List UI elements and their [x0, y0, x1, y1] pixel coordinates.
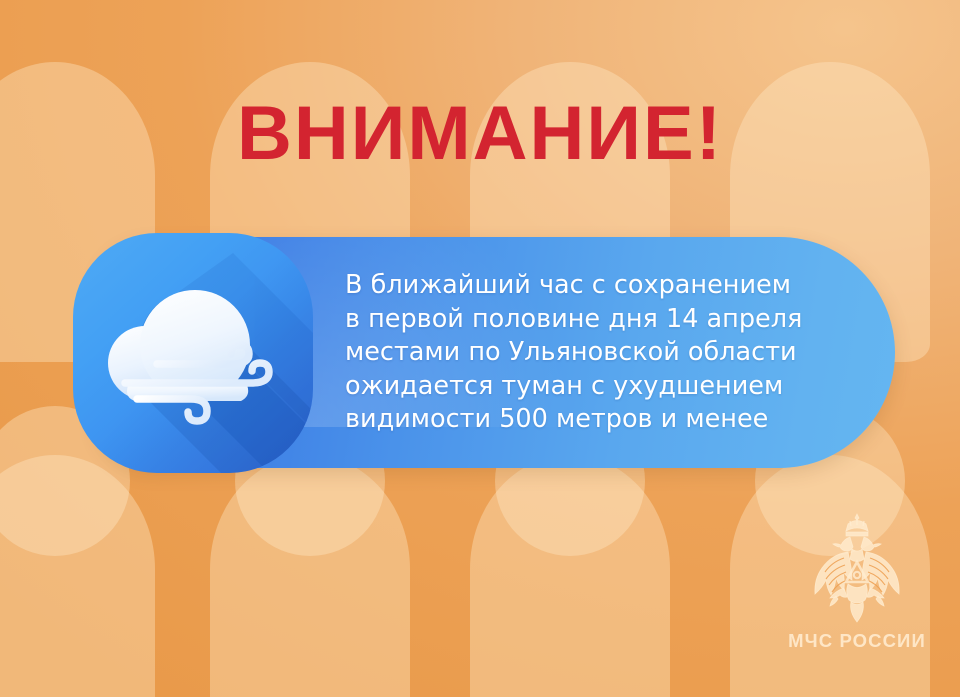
emercom-logo: МЧС РОССИИ: [782, 512, 932, 662]
warning-message-text: В ближайший час с сохранением в первой п…: [345, 269, 865, 437]
exclamation-mark-watermark: [210, 455, 410, 697]
weather-icon-tile: [73, 233, 313, 473]
exclamation-stem: [470, 455, 670, 697]
exclamation-stem: [210, 455, 410, 697]
emercom-double-headed-eagle-emblem: [804, 512, 910, 624]
exclamation-mark-watermark: [470, 455, 670, 697]
poster-canvas: ВНИМАНИЕ!: [0, 0, 960, 697]
page-title: ВНИМАНИЕ!: [0, 96, 960, 172]
emercom-logo-text: МЧС РОССИИ: [782, 630, 932, 652]
cloud-with-wind-icon: [73, 233, 313, 473]
exclamation-mark-watermark: [0, 455, 155, 697]
exclamation-stem: [0, 455, 155, 697]
